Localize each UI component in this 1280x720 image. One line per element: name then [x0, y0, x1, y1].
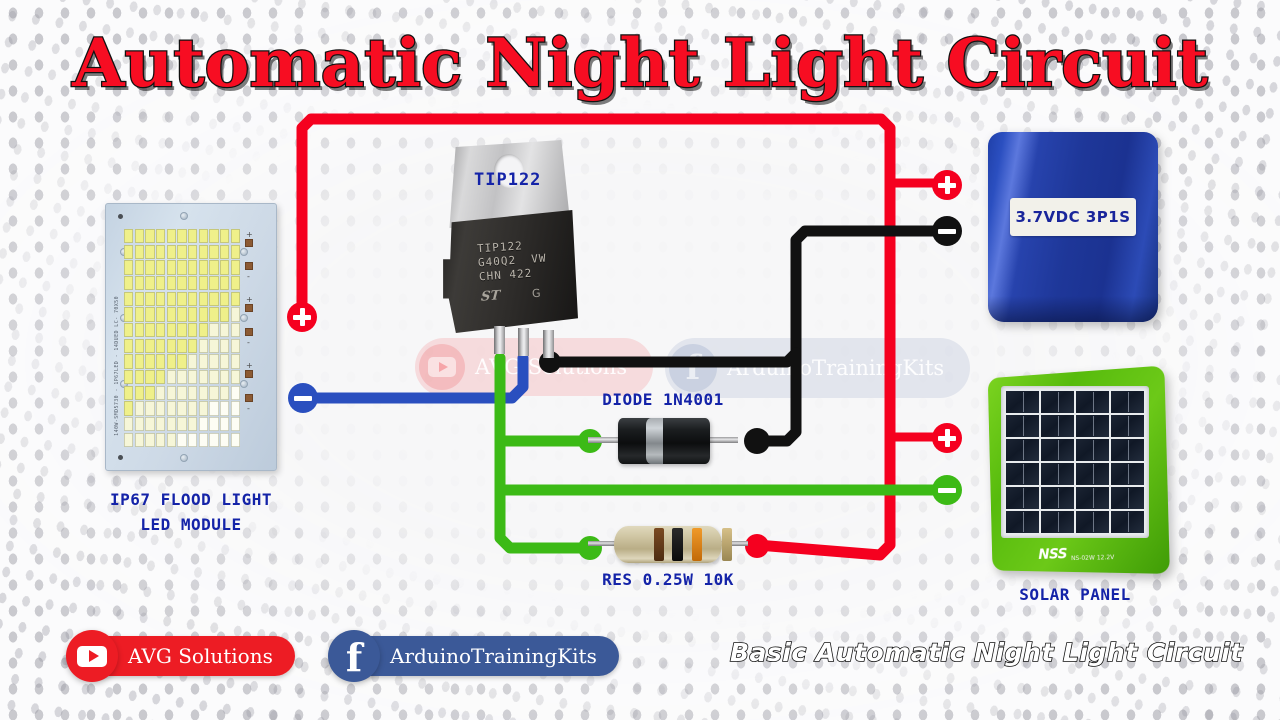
wire-green-main [500, 358, 588, 548]
solar-cell [1076, 439, 1109, 461]
led-chip [188, 417, 197, 431]
solder-pad-negative [245, 328, 253, 336]
led-chip [167, 417, 176, 431]
terminal-solar-negative[interactable] [932, 475, 962, 505]
led-chip [124, 292, 133, 306]
pad-minus-label: - [247, 272, 250, 281]
led-chip [124, 245, 133, 259]
led-chip [209, 417, 218, 431]
solar-cell [1006, 487, 1039, 509]
led-chip [231, 229, 240, 243]
led-chip [231, 245, 240, 259]
pcb-silkscreen-text: 140W-SMD5730 - 1P67LED - 14DUED LC- 70X5… [114, 296, 120, 436]
solar-cell [1006, 463, 1039, 485]
led-chip [145, 370, 154, 384]
led-chip [188, 292, 197, 306]
led-chip [177, 276, 186, 290]
bottom-caption: Basic Automatic Night Light Circuit [730, 638, 1243, 667]
led-chip [199, 401, 208, 415]
led-chip [135, 386, 144, 400]
led-chip [220, 307, 229, 321]
terminal-battery-positive[interactable] [932, 170, 962, 200]
solar-cell [1006, 439, 1039, 461]
led-chip [167, 307, 176, 321]
led-chip [135, 260, 144, 274]
diode-1n4001[interactable] [592, 418, 734, 464]
led-chip [209, 292, 218, 306]
solder-pad-positive [245, 370, 253, 378]
led-chip [188, 401, 197, 415]
led-chip [135, 433, 144, 447]
solar-cell [1041, 415, 1074, 437]
led-chip [156, 433, 165, 447]
led-chip [167, 386, 176, 400]
led-chip [177, 323, 186, 337]
solar-panel[interactable]: NSS NS-02W 12.2V [985, 372, 1165, 572]
led-chip [167, 354, 176, 368]
led-chip-grid [124, 229, 240, 447]
solar-cell [1076, 415, 1109, 437]
resistor-band-1 [654, 528, 664, 561]
led-module-caption-line2: LED MODULE [105, 515, 277, 534]
resistor-band-tolerance [722, 528, 732, 561]
pad-plus-label: + [246, 361, 253, 370]
led-chip [145, 386, 154, 400]
led-chip [167, 401, 176, 415]
led-chip [177, 260, 186, 274]
led-chip [124, 401, 133, 415]
wire-black-main [550, 231, 936, 362]
led-chip [231, 339, 240, 353]
led-chip [145, 292, 154, 306]
solar-cell [1041, 511, 1074, 533]
led-chip [167, 245, 176, 259]
junction-dot-red-resistor [745, 534, 769, 558]
led-chip [167, 229, 176, 243]
solar-cell [1111, 511, 1144, 533]
led-chip [199, 245, 208, 259]
led-chip [199, 370, 208, 384]
pcb-screw [118, 455, 123, 460]
led-chip [177, 433, 186, 447]
led-chip [199, 276, 208, 290]
led-chip [145, 339, 154, 353]
pcb-mount-hole [240, 248, 248, 256]
transistor-part-marking: TIP122 G40Q2 VW CHN 422 [477, 238, 548, 285]
led-chip [188, 245, 197, 259]
led-chip [124, 260, 133, 274]
led-chip [209, 276, 218, 290]
minus-icon [938, 488, 956, 493]
transistor-pin-base [494, 326, 505, 354]
led-chip [145, 354, 154, 368]
battery-label: 3.7VDC 3P1S [1010, 198, 1136, 236]
resistor-band-3 [692, 528, 702, 561]
led-chip [167, 370, 176, 384]
diode-lead-anode [588, 437, 622, 443]
resistor-body [614, 526, 722, 563]
led-chip [156, 260, 165, 274]
led-chip [167, 292, 176, 306]
led-chip [135, 276, 144, 290]
led-chip [145, 245, 154, 259]
diode-body [618, 418, 710, 464]
transistor-extra-mark: G [532, 287, 541, 301]
led-chip [188, 386, 197, 400]
led-chip [209, 386, 218, 400]
solar-cell [1076, 463, 1109, 485]
resistor-band-2 [672, 528, 683, 561]
led-chip [156, 386, 165, 400]
led-chip [220, 401, 229, 415]
youtube-channel-badge[interactable]: AVG Solutions [78, 636, 295, 676]
minus-icon [294, 396, 312, 401]
pad-minus-label: - [247, 404, 250, 413]
pcb-mount-hole [180, 454, 188, 462]
st-logo-icon: ST [480, 288, 500, 304]
led-chip [199, 354, 208, 368]
led-chip [135, 354, 144, 368]
led-chip [231, 307, 240, 321]
led-chip [177, 339, 186, 353]
led-chip [199, 433, 208, 447]
led-chip [220, 276, 229, 290]
led-chip [156, 401, 165, 415]
led-chip [188, 433, 197, 447]
led-chip [167, 339, 176, 353]
circuit-diagram-canvas: AVG Solutions f ArduinoTrainingKits Auto… [0, 0, 1280, 720]
solar-cell [1041, 463, 1074, 485]
solar-cell [1041, 487, 1074, 509]
solar-panel-glass [1001, 386, 1149, 538]
led-chip [199, 386, 208, 400]
pcb-mount-hole [180, 212, 188, 220]
minus-icon [938, 229, 956, 234]
transistor-pin-emitter [543, 330, 554, 358]
led-chip [167, 323, 176, 337]
facebook-icon: f [328, 630, 380, 682]
solar-cell [1006, 415, 1039, 437]
solar-cell [1041, 391, 1074, 413]
led-flood-light-module[interactable]: + - + - + - 140W-SMD5730 - 1P67LED - 14D… [105, 203, 277, 471]
solar-cell [1006, 391, 1039, 413]
led-chip [209, 260, 218, 274]
led-chip [135, 307, 144, 321]
led-chip [209, 433, 218, 447]
facebook-page-badge[interactable]: f ArduinoTrainingKits [340, 636, 619, 676]
led-chip [209, 307, 218, 321]
led-chip [231, 401, 240, 415]
terminal-led-positive[interactable] [287, 302, 317, 332]
led-chip [156, 417, 165, 431]
led-chip [188, 339, 197, 353]
led-chip [124, 276, 133, 290]
resistor-caption: RES 0.25W 10K [578, 570, 758, 589]
solar-cell [1111, 439, 1144, 461]
led-chip [177, 307, 186, 321]
diode-caption: DIODE 1N4001 [592, 390, 734, 409]
solar-cell [1111, 487, 1144, 509]
led-chip [145, 401, 154, 415]
youtube-icon [66, 630, 118, 682]
led-chip [199, 339, 208, 353]
led-chip [188, 370, 197, 384]
led-chip [199, 417, 208, 431]
diode-cathode-band [646, 418, 663, 464]
led-chip [145, 417, 154, 431]
led-chip [220, 229, 229, 243]
pad-plus-label: + [246, 230, 253, 239]
transistor-overlay-label: TIP122 [474, 170, 541, 190]
led-chip [177, 354, 186, 368]
led-chip [156, 323, 165, 337]
led-chip [135, 370, 144, 384]
led-chip [177, 370, 186, 384]
led-chip [188, 354, 197, 368]
led-chip [220, 370, 229, 384]
solder-pad-negative [245, 394, 253, 402]
led-chip [177, 417, 186, 431]
pcb-screw [118, 214, 123, 219]
solder-pad-positive [245, 304, 253, 312]
led-chip [220, 292, 229, 306]
led-chip [124, 386, 133, 400]
led-chip [220, 260, 229, 274]
tip122-transistor[interactable]: TIP122 TIP122 G40Q2 VW CHN 422 ST G [432, 140, 582, 355]
led-chip [209, 370, 218, 384]
wire-blue-main [303, 358, 523, 398]
led-chip [220, 386, 229, 400]
led-chip [231, 354, 240, 368]
led-chip [124, 417, 133, 431]
terminal-led-negative[interactable] [288, 383, 318, 413]
led-chip [145, 323, 154, 337]
junction-dot-black-diode [744, 428, 770, 454]
led-chip [135, 417, 144, 431]
pad-minus-label: - [247, 338, 250, 347]
led-chip [220, 245, 229, 259]
pad-plus-label: + [246, 295, 253, 304]
led-chip [156, 245, 165, 259]
solder-pad-positive [245, 239, 253, 247]
led-chip [188, 307, 197, 321]
led-chip [156, 292, 165, 306]
led-chip [231, 386, 240, 400]
led-chip [124, 339, 133, 353]
solar-cell-grid [1006, 391, 1144, 533]
solar-cell [1111, 415, 1144, 437]
led-chip [135, 292, 144, 306]
led-chip [177, 245, 186, 259]
led-chip [177, 292, 186, 306]
led-chip [145, 229, 154, 243]
solder-pad-negative [245, 262, 253, 270]
led-chip [231, 417, 240, 431]
solar-brand-name: NSS [1038, 546, 1067, 563]
led-chip [209, 401, 218, 415]
led-chip [124, 307, 133, 321]
led-chip [177, 229, 186, 243]
led-chip [199, 307, 208, 321]
transistor-pin-collector [518, 328, 529, 356]
led-chip [135, 323, 144, 337]
led-chip [167, 260, 176, 274]
led-chip [220, 354, 229, 368]
led-chip [188, 323, 197, 337]
terminal-solar-positive[interactable] [932, 423, 962, 453]
solar-cell [1076, 487, 1109, 509]
terminal-battery-negative[interactable] [932, 216, 962, 246]
led-module-caption-line1: IP67 FLOOD LIGHT [105, 490, 277, 509]
solar-cell [1076, 391, 1109, 413]
led-chip [188, 276, 197, 290]
solar-cell [1111, 391, 1144, 413]
led-chip [135, 229, 144, 243]
led-chip [199, 292, 208, 306]
led-chip [188, 260, 197, 274]
led-chip [145, 307, 154, 321]
led-chip [209, 323, 218, 337]
led-chip [145, 276, 154, 290]
led-chip [124, 370, 133, 384]
battery-pack[interactable]: 3.7VDC 3P1S [988, 132, 1158, 322]
led-chip [124, 354, 133, 368]
led-chip [156, 354, 165, 368]
led-chip [231, 276, 240, 290]
led-chip [156, 307, 165, 321]
solar-cell [1111, 463, 1144, 485]
led-chip [231, 370, 240, 384]
led-chip [231, 433, 240, 447]
resistor-10k[interactable] [592, 525, 744, 565]
led-chip [156, 370, 165, 384]
led-chip [167, 276, 176, 290]
pcb-mount-hole [240, 380, 248, 388]
led-chip [124, 323, 133, 337]
led-chip [145, 433, 154, 447]
led-chip [209, 339, 218, 353]
led-chip [220, 417, 229, 431]
led-chip [124, 433, 133, 447]
led-chip [209, 354, 218, 368]
led-chip [135, 401, 144, 415]
solar-panel-brand: NSS NS-02W 12.2V [1038, 545, 1114, 563]
pcb-mount-hole [240, 314, 248, 322]
led-chip [231, 323, 240, 337]
led-chip [209, 245, 218, 259]
led-chip [231, 292, 240, 306]
led-chip [167, 433, 176, 447]
led-chip [145, 260, 154, 274]
led-chip [209, 229, 218, 243]
led-chip [199, 323, 208, 337]
led-chip [199, 229, 208, 243]
solar-cell [1006, 511, 1039, 533]
led-chip [199, 260, 208, 274]
led-chip [156, 229, 165, 243]
led-chip [124, 229, 133, 243]
led-chip [188, 229, 197, 243]
led-chip [220, 339, 229, 353]
solar-model-number: NS-02W 12.2V [1071, 554, 1114, 562]
youtube-badge-label: AVG Solutions [128, 644, 273, 668]
led-chip [220, 323, 229, 337]
led-chip [156, 276, 165, 290]
solar-cell [1041, 439, 1074, 461]
led-chip [135, 245, 144, 259]
facebook-badge-label: ArduinoTrainingKits [390, 644, 597, 668]
led-chip [231, 260, 240, 274]
led-chip [220, 433, 229, 447]
led-chip [177, 386, 186, 400]
led-chip [177, 401, 186, 415]
solar-cell [1076, 511, 1109, 533]
led-chip [156, 339, 165, 353]
solar-panel-caption: SOLAR PANEL [985, 585, 1165, 604]
led-chip [135, 339, 144, 353]
